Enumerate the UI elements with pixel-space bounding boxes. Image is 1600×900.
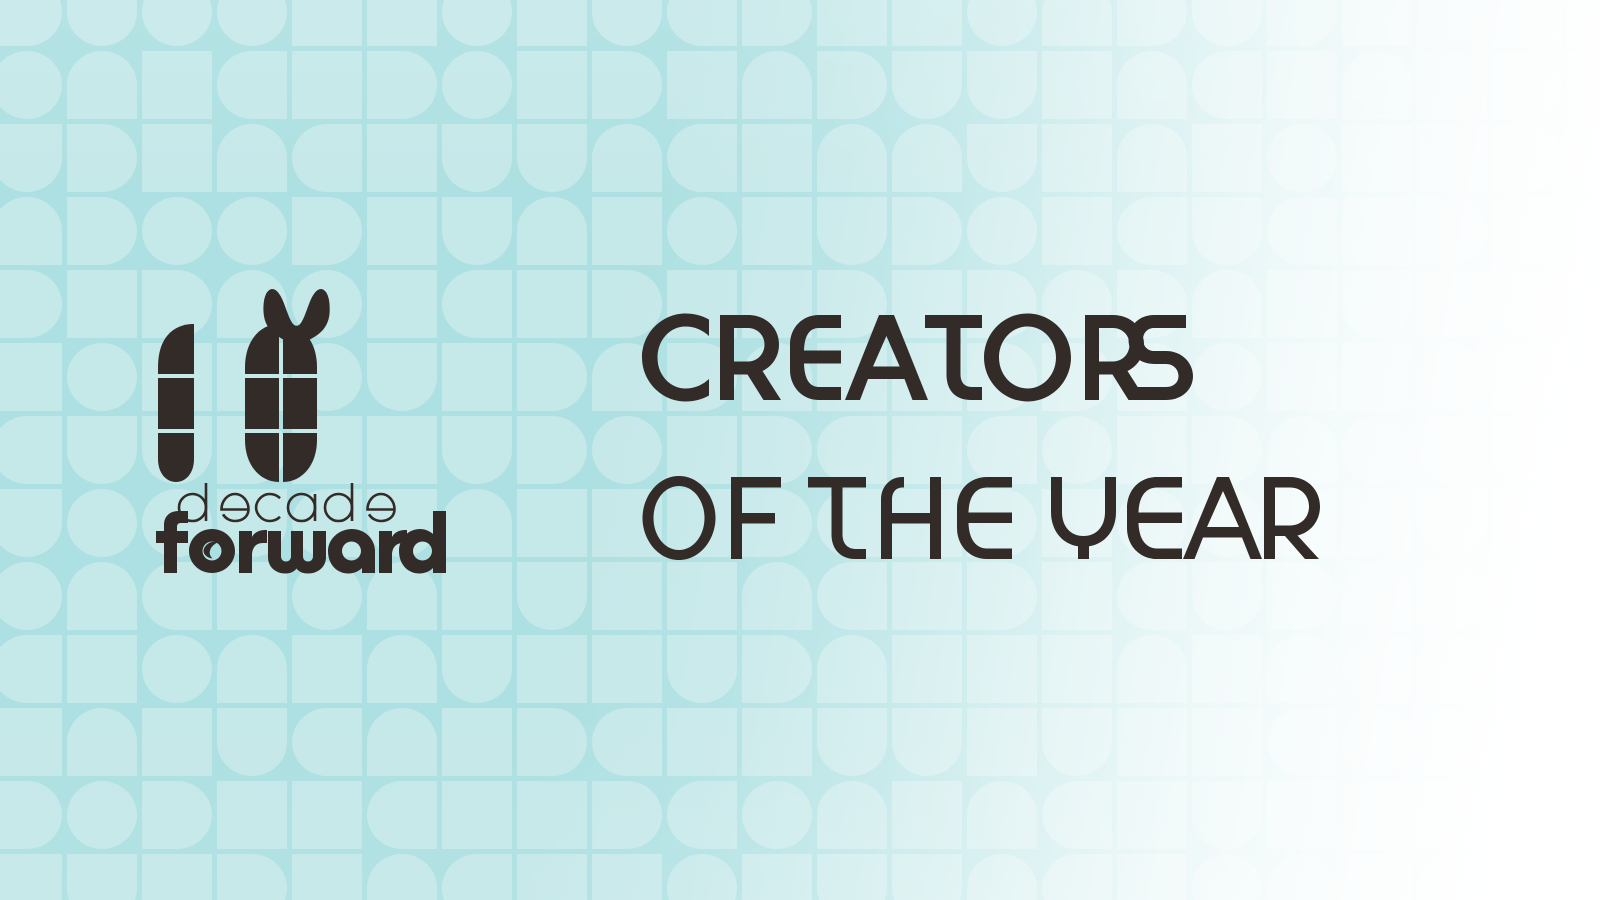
arch-down-tile [892, 854, 962, 900]
square-tile [142, 51, 212, 119]
circle-tile [667, 197, 737, 265]
d-shape-left-tile [817, 562, 887, 630]
square-tile [217, 781, 287, 849]
square-tile [742, 854, 812, 900]
arch-down-tile [967, 51, 1037, 119]
arch-down-tile [892, 708, 962, 776]
arch-down-tile [67, 416, 137, 484]
d-shape-left-tile [217, 51, 287, 119]
square-tile [967, 635, 1037, 703]
arch-up-tile [1267, 635, 1337, 703]
square-tile [667, 51, 737, 119]
d-shape-left-tile [667, 781, 737, 849]
d-shape-right-tile [292, 197, 362, 265]
arch-up-tile [967, 781, 1037, 849]
circle-tile [442, 51, 512, 119]
d-shape-right-tile [142, 781, 212, 849]
square-tile [1042, 197, 1112, 265]
d-shape-left-tile [1267, 197, 1337, 265]
arch-down-tile [1492, 197, 1562, 265]
square-tile [292, 854, 362, 900]
square-tile [592, 635, 662, 703]
arch-up-tile [67, 562, 137, 630]
square-tile [1117, 854, 1187, 900]
square-tile [517, 270, 587, 338]
arch-down-tile [1192, 197, 1262, 265]
arch-down-tile [817, 197, 887, 265]
square-tile [742, 708, 812, 776]
square-tile [517, 781, 587, 849]
arch-up-tile [1117, 635, 1187, 703]
square-tile [1042, 635, 1112, 703]
d-shape-right-tile [367, 51, 437, 119]
square-tile [517, 489, 587, 557]
d-shape-left-tile [1117, 197, 1187, 265]
d-shape-right-tile [742, 635, 812, 703]
circle-tile [967, 197, 1037, 265]
arch-down-tile [967, 124, 1037, 192]
arch-up-tile [367, 708, 437, 776]
square-tile [1342, 854, 1412, 900]
arch-up-tile [67, 708, 137, 776]
square-tile [1492, 635, 1562, 703]
square-tile [517, 51, 587, 119]
square-tile [292, 0, 362, 46]
d-shape-left-tile [667, 124, 737, 192]
d-shape-right-tile [967, 562, 1037, 630]
arch-up-tile [442, 489, 512, 557]
square-tile [1567, 635, 1600, 703]
d-shape-left-tile [292, 124, 362, 192]
square-tile [1342, 124, 1412, 192]
logo-numeral-one [158, 324, 194, 482]
square-tile [892, 0, 962, 46]
square-tile [742, 197, 812, 265]
arch-up-tile [742, 51, 812, 119]
arch-down-tile [892, 51, 962, 119]
d-shape-right-tile [1567, 270, 1600, 338]
square-tile [142, 708, 212, 776]
d-shape-left-tile [0, 635, 62, 703]
square-tile [67, 635, 137, 703]
square-tile [1492, 562, 1562, 630]
circle-tile [1267, 124, 1337, 192]
decade-forward-logo [150, 285, 410, 550]
d-shape-right-tile [892, 197, 962, 265]
square-tile [292, 635, 362, 703]
d-shape-right-tile [517, 343, 587, 411]
arch-up-tile [1342, 51, 1412, 119]
d-shape-left-tile [1492, 781, 1562, 849]
circle-tile [67, 343, 137, 411]
square-tile [367, 0, 437, 46]
square-tile [1342, 0, 1412, 46]
d-shape-right-tile [67, 197, 137, 265]
d-shape-right-tile [517, 416, 587, 484]
arch-down-tile [67, 854, 137, 900]
arch-up-tile [1117, 51, 1187, 119]
square-tile [1567, 708, 1600, 776]
square-tile [592, 197, 662, 265]
square-tile [67, 270, 137, 338]
square-tile [1042, 51, 1112, 119]
d-shape-left-tile [1192, 51, 1262, 119]
square-tile [967, 708, 1037, 776]
square-tile [742, 124, 812, 192]
square-tile [892, 781, 962, 849]
d-shape-left-tile [1117, 562, 1187, 630]
circle-tile [67, 781, 137, 849]
arch-down-tile [817, 854, 887, 900]
square-tile [667, 562, 737, 630]
square-tile [1417, 124, 1487, 192]
wordmark-decade [179, 483, 395, 521]
square-tile [1492, 0, 1562, 46]
circle-tile [742, 781, 812, 849]
square-tile [442, 562, 512, 630]
logo-numeral-zero [245, 324, 317, 482]
d-shape-left-tile [367, 781, 437, 849]
arch-down-tile [517, 562, 587, 630]
square-tile [442, 708, 512, 776]
square-tile [517, 0, 587, 46]
brand-lockup: 10 decade forward [150, 285, 410, 550]
d-shape-right-tile [1417, 562, 1487, 630]
circle-tile [142, 197, 212, 265]
arch-up-tile [1417, 708, 1487, 776]
d-shape-right-tile [1492, 51, 1562, 119]
square-tile [592, 854, 662, 900]
arch-up-tile [1417, 0, 1487, 46]
d-shape-left-tile [1042, 781, 1112, 849]
d-shape-left-tile [592, 708, 662, 776]
square-tile [1192, 635, 1262, 703]
arch-up-tile [517, 197, 587, 265]
arch-up-tile [217, 124, 287, 192]
arch-down-tile [442, 124, 512, 192]
d-shape-right-tile [67, 124, 137, 192]
arch-down-tile [442, 416, 512, 484]
arch-down-tile [1042, 708, 1112, 776]
square-tile [1417, 781, 1487, 849]
arch-up-tile [817, 781, 887, 849]
square-tile [1117, 708, 1187, 776]
square-tile [0, 854, 62, 900]
d-shape-right-tile [1267, 562, 1337, 630]
arch-up-tile [817, 635, 887, 703]
square-tile [1042, 562, 1112, 630]
d-shape-right-tile [517, 708, 587, 776]
circle-tile [142, 635, 212, 703]
square-tile [367, 124, 437, 192]
square-tile [142, 854, 212, 900]
square-tile [517, 635, 587, 703]
square-tile [442, 343, 512, 411]
arch-up-tile [1117, 124, 1187, 192]
d-shape-right-tile [1492, 124, 1562, 192]
d-shape-right-tile [1567, 416, 1600, 484]
arch-up-tile [1342, 562, 1412, 630]
arch-down-tile [817, 708, 887, 776]
d-shape-left-tile [442, 270, 512, 338]
square-tile [292, 51, 362, 119]
arch-up-tile [217, 635, 287, 703]
arch-down-tile [1192, 562, 1262, 630]
arch-up-tile [1042, 0, 1112, 46]
arch-up-tile [367, 635, 437, 703]
square-tile [592, 562, 662, 630]
d-shape-left-tile [1342, 635, 1412, 703]
square-tile [1492, 708, 1562, 776]
square-tile [892, 562, 962, 630]
poster-canvas: 10 decade forward [0, 0, 1600, 900]
square-tile [667, 708, 737, 776]
square-tile [1192, 124, 1262, 192]
square-tile [1267, 781, 1337, 849]
d-shape-right-tile [592, 51, 662, 119]
square-tile [1117, 781, 1187, 849]
square-tile [1342, 197, 1412, 265]
arch-up-tile [742, 562, 812, 630]
d-shape-left-tile [292, 708, 362, 776]
square-tile [142, 124, 212, 192]
arch-up-tile [817, 124, 887, 192]
square-tile [1192, 708, 1262, 776]
arch-up-tile [892, 124, 962, 192]
square-tile [517, 854, 587, 900]
square-tile [1342, 781, 1412, 849]
d-shape-right-tile [1417, 197, 1487, 265]
circle-tile [217, 197, 287, 265]
d-shape-left-tile [0, 416, 62, 484]
arch-down-tile [442, 197, 512, 265]
d-shape-right-tile [592, 781, 662, 849]
square-tile [1567, 0, 1600, 46]
square-tile [1567, 562, 1600, 630]
headline-block: CREATORS OF THE YEAR [638, 300, 1538, 570]
arch-down-tile [442, 635, 512, 703]
square-tile [892, 635, 962, 703]
arch-down-tile [517, 124, 587, 192]
d-shape-right-tile [1567, 343, 1600, 411]
arch-up-tile [592, 124, 662, 192]
arch-up-tile [67, 51, 137, 119]
square-tile [292, 781, 362, 849]
square-tile [367, 197, 437, 265]
square-tile [1042, 124, 1112, 192]
arch-down-tile [1192, 781, 1262, 849]
d-shape-right-tile [1567, 51, 1600, 119]
headline-line-2 [638, 460, 1258, 570]
headline-line-1 [638, 300, 1198, 410]
square-tile [0, 343, 62, 411]
arch-down-tile [667, 635, 737, 703]
square-tile [1417, 51, 1487, 119]
d-shape-left-tile [1267, 708, 1337, 776]
d-shape-right-tile [817, 51, 887, 119]
circle-tile [67, 489, 137, 557]
arch-up-tile [367, 562, 437, 630]
arch-down-tile [217, 708, 287, 776]
circle-tile [1342, 708, 1412, 776]
square-tile [817, 0, 887, 46]
circle-tile [1417, 635, 1487, 703]
square-tile [442, 781, 512, 849]
square-tile [1267, 51, 1337, 119]
square-tile [0, 708, 62, 776]
